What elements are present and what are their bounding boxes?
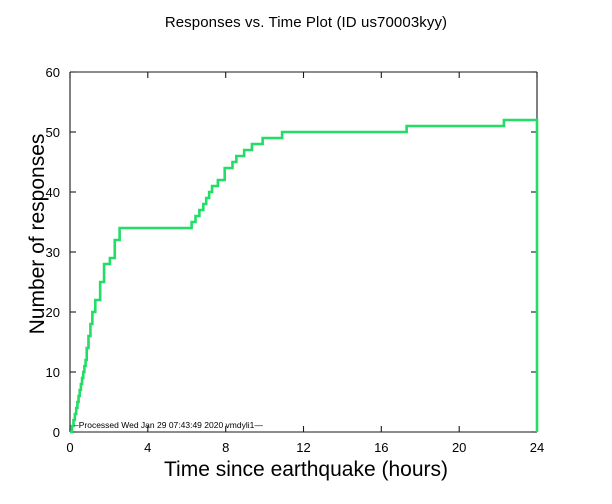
x-ticklabel-24: 24 (530, 440, 544, 455)
x-ticklabel-8: 8 (222, 440, 229, 455)
y-ticklabel-40: 40 (46, 185, 60, 200)
x-ticklabel-4: 4 (144, 440, 151, 455)
y-ticklabel-30: 30 (46, 245, 60, 260)
processing-credit-text: –Processed Wed Jan 29 07:43:49 2020 vmdy… (74, 420, 263, 430)
x-ticklabel-0: 0 (66, 440, 73, 455)
y-ticklabel-60: 60 (46, 65, 60, 80)
x-ticklabel-20: 20 (452, 440, 466, 455)
y-ticklabel-0: 0 (53, 425, 60, 440)
y-ticklabel-20: 20 (46, 305, 60, 320)
figure-canvas: Responses vs. Time Plot (ID us70003kyy) … (0, 0, 612, 504)
x-ticklabel-12: 12 (296, 440, 310, 455)
y-axis-tick-labels: 0 10 20 30 40 50 60 (46, 65, 60, 440)
response-step-curve (70, 120, 537, 432)
y-ticklabel-50: 50 (46, 125, 60, 140)
x-ticklabel-16: 16 (374, 440, 388, 455)
y-ticklabel-10: 10 (46, 365, 60, 380)
x-axis-tick-labels: 0 4 8 12 16 20 24 (66, 440, 544, 455)
